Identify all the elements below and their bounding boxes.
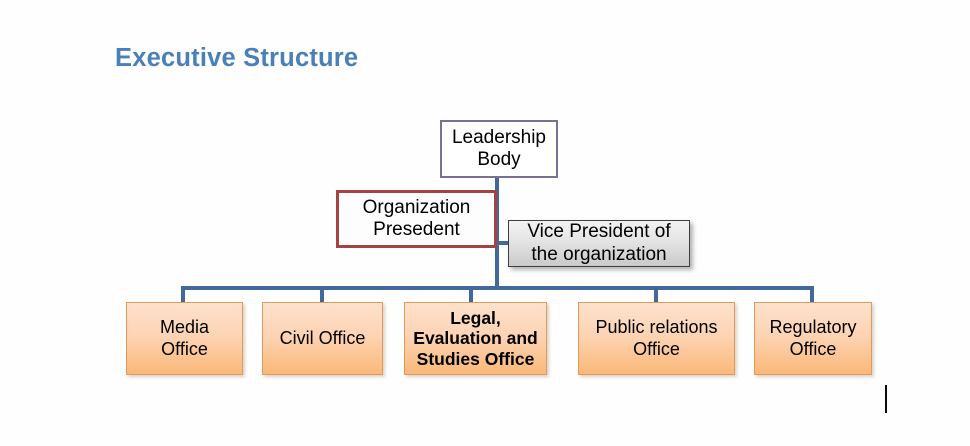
node-regulatory-office[interactable]: Regulatory Office: [754, 302, 872, 375]
node-organization-president[interactable]: Organization Presedent: [336, 190, 497, 248]
leadership-body-label-line2: Body: [452, 149, 546, 171]
text-cursor-caret: [885, 385, 887, 413]
legal-office-label-line1: Legal,: [413, 308, 537, 329]
connector-drop-legal-office: [469, 286, 473, 303]
public-relations-office-label-line1: Public relations: [595, 317, 717, 338]
regulatory-office-label-line1: Regulatory: [769, 317, 856, 338]
slide-canvas: Executive Structure Leadership Body Orga…: [0, 0, 970, 446]
organization-president-label-line2: Presedent: [363, 219, 471, 241]
public-relations-office-label-line2: Office: [595, 339, 717, 360]
connector-drop-media-office: [181, 286, 185, 303]
connector-drop-regulatory-office: [810, 286, 814, 303]
civil-office-label-line1: Civil Office: [280, 328, 366, 349]
connector-office-bus: [181, 286, 814, 290]
node-legal-evaluation-studies-office[interactable]: Legal, Evaluation and Studies Office: [404, 302, 547, 375]
connector-drop-public-relations-office: [654, 286, 658, 303]
node-leadership-body[interactable]: Leadership Body: [440, 120, 558, 178]
vice-president-label-line2: the organization: [527, 244, 670, 266]
node-civil-office[interactable]: Civil Office: [262, 302, 383, 375]
legal-office-label-line2: Evaluation and: [413, 328, 537, 349]
page-title: Executive Structure: [115, 44, 358, 73]
media-office-label-line1: Media: [160, 317, 209, 338]
connector-drop-civil-office: [320, 286, 324, 303]
leadership-body-label-line1: Leadership: [452, 127, 546, 149]
organization-president-label-line1: Organization: [363, 197, 471, 219]
node-media-office[interactable]: Media Office: [126, 302, 243, 375]
regulatory-office-label-line2: Office: [769, 339, 856, 360]
legal-office-label-line3: Studies Office: [413, 349, 537, 370]
vice-president-label-line1: Vice President of: [527, 221, 670, 243]
node-vice-president[interactable]: Vice President of the organization: [508, 220, 690, 267]
media-office-label-line2: Office: [160, 339, 209, 360]
node-public-relations-office[interactable]: Public relations Office: [578, 302, 735, 375]
